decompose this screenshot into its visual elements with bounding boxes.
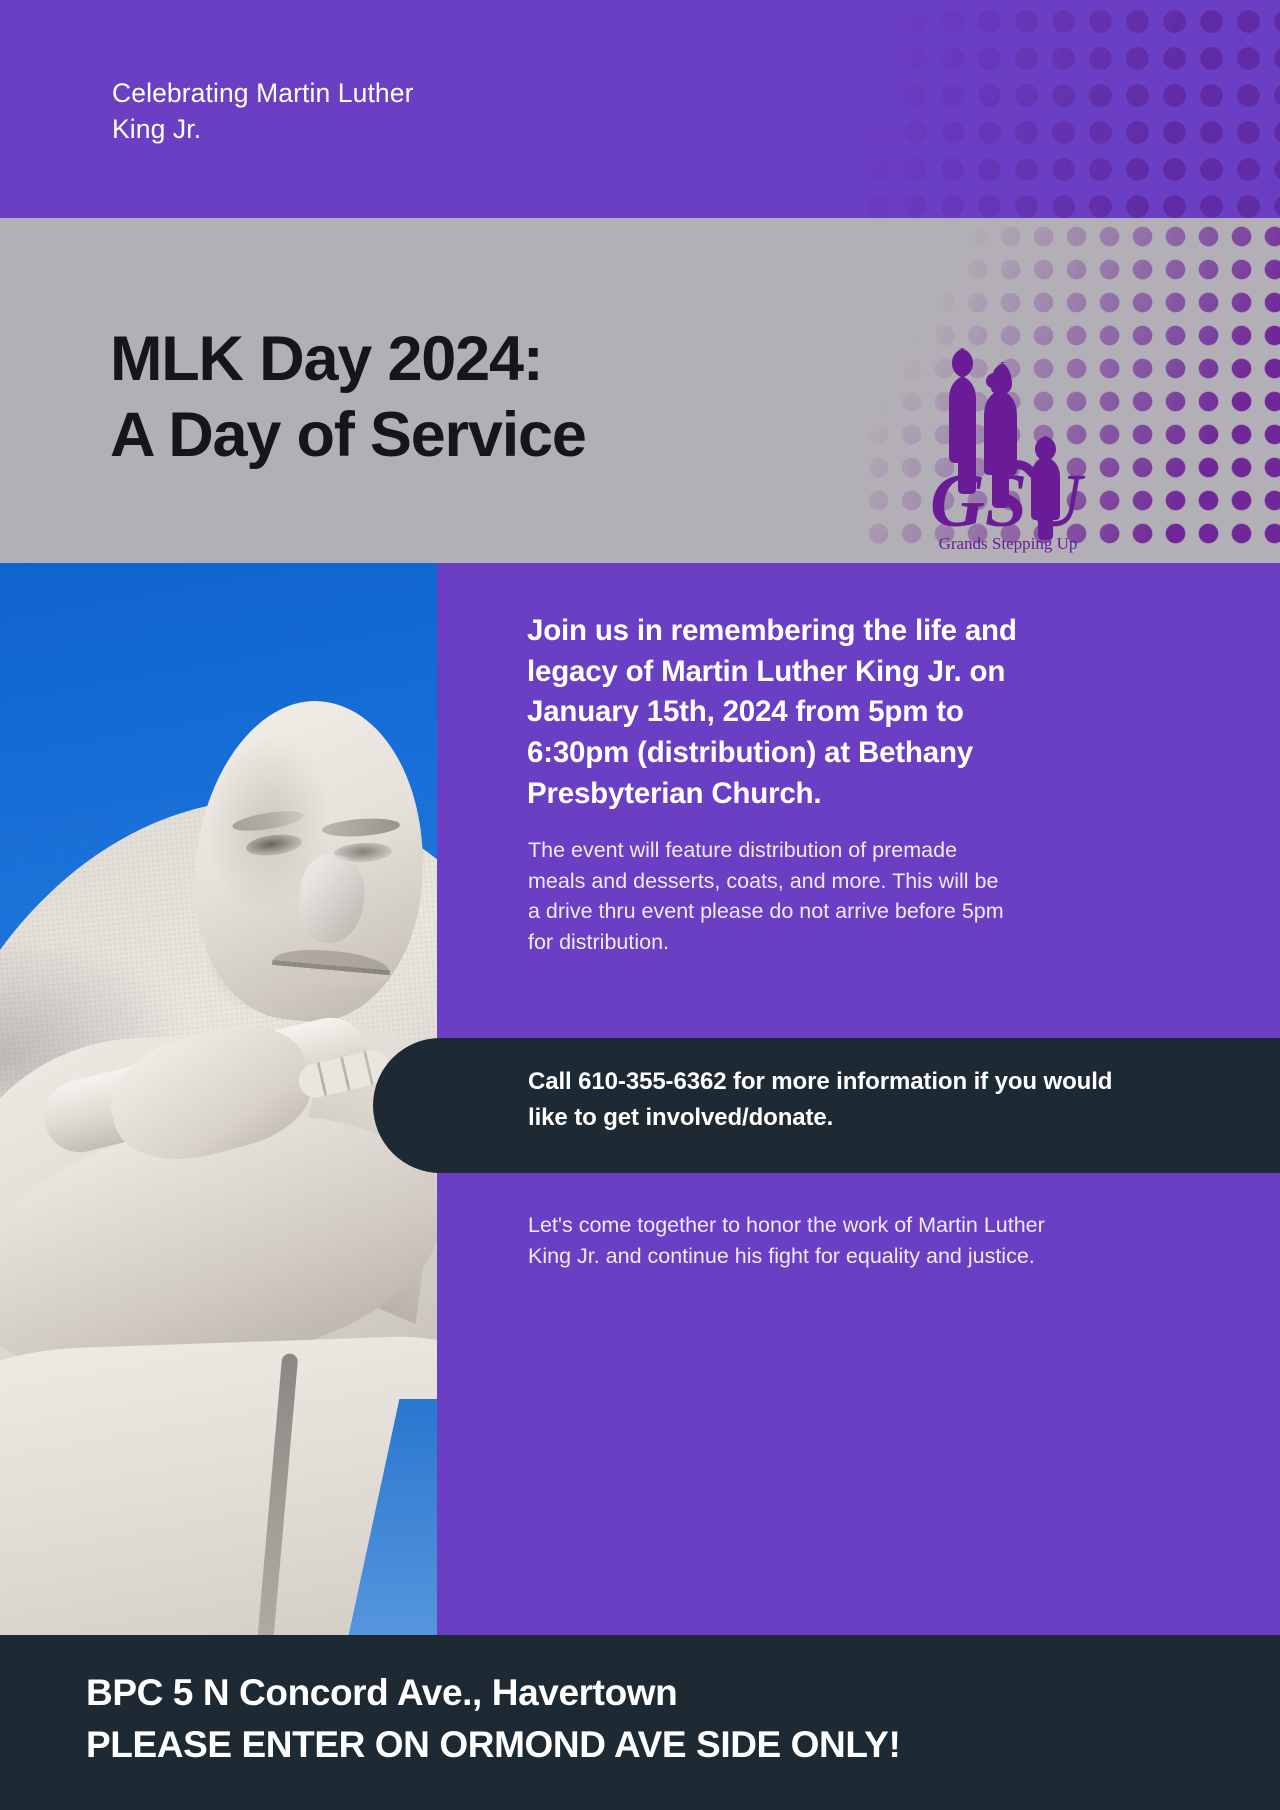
halftone-dots-icon [820, 0, 1280, 218]
header-band: Celebrating Martin Luther King Jr. [0, 0, 1280, 218]
kicker-text: Celebrating Martin Luther King Jr. [112, 76, 414, 147]
gsu-tagline: Grands Stepping Up [939, 534, 1078, 553]
gsu-acronym: GSU [930, 459, 1086, 543]
event-detail: The event will feature distribution of p… [528, 835, 1008, 958]
footer-bar: BPC 5 N Concord Ave., Havertown PLEASE E… [0, 1635, 1280, 1810]
page-title: MLK Day 2024: A Day of Service [110, 322, 586, 473]
footer-notice: PLEASE ENTER ON ORMOND AVE SIDE ONLY! [86, 1724, 900, 1766]
contact-callout-text: Call 610-355-6362 for more information i… [528, 1064, 1128, 1137]
contact-callout: Call 610-355-6362 for more information i… [373, 1038, 1280, 1173]
closing-message: Let's come together to honor the work of… [528, 1210, 1058, 1272]
footer-address: BPC 5 N Concord Ave., Havertown [86, 1672, 677, 1714]
event-lede: Join us in remembering the life and lega… [527, 611, 1037, 815]
mlk-memorial-photo [0, 563, 437, 1635]
gsu-logo: GSU Grands Stepping Up [928, 340, 1088, 555]
title-band: MLK Day 2024: A Day of Service [0, 218, 1280, 563]
